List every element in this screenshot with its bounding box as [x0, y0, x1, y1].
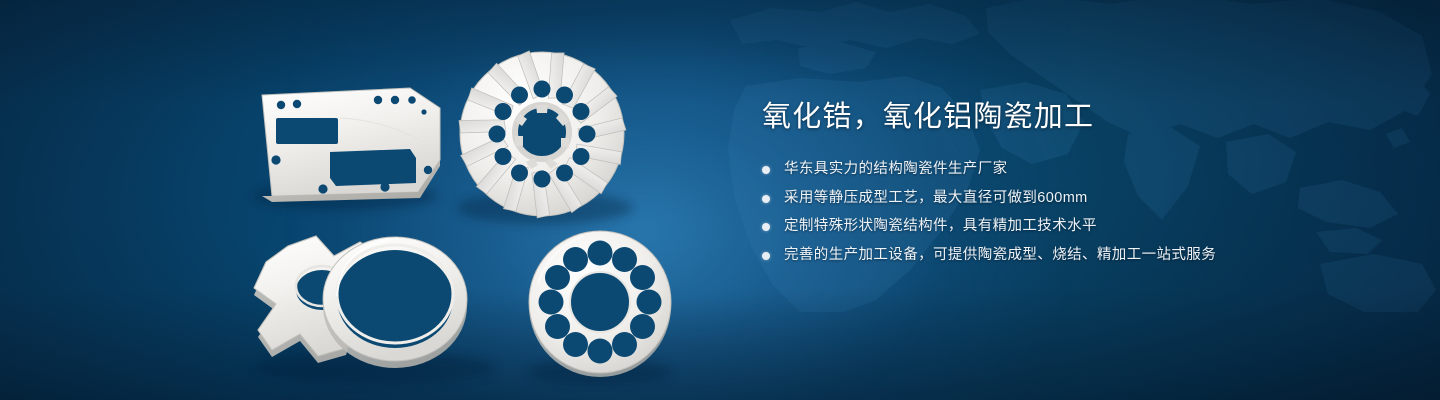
- feature-item: 定制特殊形状陶瓷结构件，具有精加工技术水平: [762, 217, 1402, 237]
- feature-text: 华东具实力的结构陶瓷件生产厂家: [784, 160, 1008, 180]
- bullet-dot-icon: [762, 195, 770, 203]
- bullet-dot-icon: [762, 252, 770, 260]
- bullet-dot-icon: [762, 223, 770, 231]
- feature-item: 采用等静压成型工艺，最大直径可做到600mm: [762, 189, 1402, 209]
- banner-copy: 氧化锆，氧化铝陶瓷加工 华东具实力的结构陶瓷件生产厂家 采用等静压成型工艺，最大…: [762, 100, 1402, 265]
- feature-text: 完善的生产加工设备，可提供陶瓷成型、烧结、精加工一站式服务: [784, 246, 1216, 266]
- feature-item: 完善的生产加工设备，可提供陶瓷成型、烧结、精加工一站式服务: [762, 246, 1402, 266]
- product-photo-group: [0, 0, 720, 400]
- promo-banner: 氧化锆，氧化铝陶瓷加工 华东具实力的结构陶瓷件生产厂家 采用等静压成型工艺，最大…: [0, 0, 1440, 400]
- ceramic-impeller-part: [457, 49, 626, 219]
- bullet-dot-icon: [762, 166, 770, 174]
- feature-text: 采用等静压成型工艺，最大直径可做到600mm: [784, 189, 1088, 209]
- ceramic-disc-part: [529, 231, 671, 377]
- ceramic-plate-part: [262, 88, 440, 202]
- feature-item: 华东具实力的结构陶瓷件生产厂家: [762, 160, 1402, 180]
- feature-text: 定制特殊形状陶瓷结构件，具有精加工技术水平: [784, 217, 1097, 237]
- feature-list: 华东具实力的结构陶瓷件生产厂家 采用等静压成型工艺，最大直径可做到600mm 定…: [762, 160, 1402, 265]
- banner-headline: 氧化锆，氧化铝陶瓷加工: [762, 100, 1402, 134]
- ceramic-ring-part: [323, 237, 467, 368]
- ceramic-parts-illustration: [0, 0, 720, 400]
